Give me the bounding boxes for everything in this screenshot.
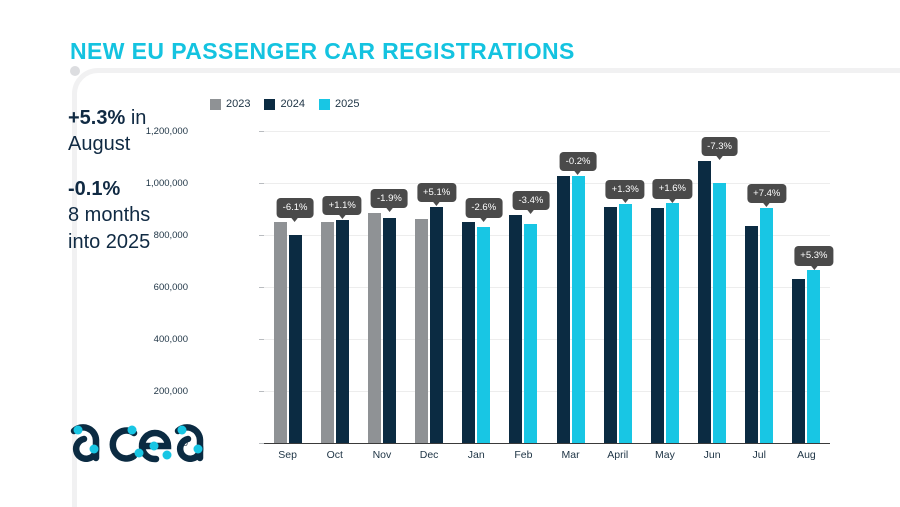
x-tick-label-Oct: Oct <box>327 449 343 461</box>
pct-label-Jan: -2.6% <box>465 198 502 218</box>
bar-Nov-2023[interactable] <box>368 213 381 443</box>
stat-ytd-value: -0.1% <box>68 178 120 200</box>
bar-Jun-2025[interactable] <box>713 183 726 443</box>
bar-Feb-2024[interactable] <box>509 215 522 443</box>
bar-April-2025[interactable] <box>619 204 632 443</box>
bar-Oct-2024[interactable] <box>336 220 349 443</box>
bar-Oct-2023[interactable] <box>321 222 334 443</box>
bar-group-April <box>594 131 641 443</box>
legend-swatch-2025 <box>319 99 330 110</box>
stat-ytd-line1: 8 months <box>68 204 150 226</box>
bar-Jan-2024[interactable] <box>462 222 475 443</box>
gridline-0 <box>264 443 830 444</box>
stat-august-value: +5.3% <box>68 107 125 129</box>
y-tick-label-200000: 200,000 <box>118 386 188 397</box>
legend-label-2025: 2025 <box>335 98 359 110</box>
chart-plot-area: -6.1%+1.1%-1.9%+5.1%-2.6%-3.4%-0.2%+1.3%… <box>264 131 830 443</box>
pct-label-Mar: -0.2% <box>560 152 597 172</box>
x-tick-label-Aug: Aug <box>797 449 816 461</box>
y-tick-label-1000000: 1,000,000 <box>118 178 188 189</box>
y-tick-label-600000: 600,000 <box>118 282 188 293</box>
x-tick-label-May: May <box>655 449 675 461</box>
x-axis: SepOctNovDecJanFebMarAprilMayJunJulAug <box>264 449 830 469</box>
bar-May-2024[interactable] <box>651 208 664 443</box>
x-tick-label-April: April <box>607 449 628 461</box>
bar-group-Mar <box>547 131 594 443</box>
x-tick-label-Dec: Dec <box>420 449 439 461</box>
x-tick-label-Jun: Jun <box>704 449 721 461</box>
y-tick-label-800000: 800,000 <box>118 230 188 241</box>
chart-page: NEW EU PASSENGER CAR REGISTRATIONS +5.3%… <box>0 0 900 507</box>
legend-item-2023[interactable]: 2023 <box>210 98 250 110</box>
pct-label-Oct: +1.1% <box>323 196 362 216</box>
bar-group-Jul <box>736 131 783 443</box>
legend-label-2023: 2023 <box>226 98 250 110</box>
bar-Jun-2024[interactable] <box>698 161 711 443</box>
bar-group-Jan <box>453 131 500 443</box>
pct-label-Dec: +5.1% <box>417 183 456 203</box>
acea-logo <box>66 405 216 467</box>
bar-group-Sep <box>264 131 311 443</box>
y-tick-mark-0 <box>259 443 264 444</box>
bar-group-Jun <box>689 131 736 443</box>
legend-item-2024[interactable]: 2024 <box>264 98 304 110</box>
x-tick-label-Jul: Jul <box>753 449 766 461</box>
pct-label-Nov: -1.9% <box>371 189 408 209</box>
legend-item-2025[interactable]: 2025 <box>319 98 359 110</box>
pct-label-Jul: +7.4% <box>747 184 786 204</box>
bar-April-2024[interactable] <box>604 207 617 443</box>
bar-Aug-2025[interactable] <box>807 270 820 443</box>
x-tick-label-Jan: Jan <box>468 449 485 461</box>
bar-Jul-2025[interactable] <box>760 208 773 443</box>
bar-Mar-2025[interactable] <box>572 176 585 443</box>
bar-Dec-2023[interactable] <box>415 219 428 443</box>
card-corner-dot <box>70 66 80 76</box>
bar-May-2025[interactable] <box>666 203 679 443</box>
x-tick-label-Feb: Feb <box>514 449 532 461</box>
legend-swatch-2024 <box>264 99 275 110</box>
bar-group-Nov <box>358 131 405 443</box>
bar-Mar-2024[interactable] <box>557 176 570 443</box>
page-title: NEW EU PASSENGER CAR REGISTRATIONS <box>70 38 575 65</box>
legend-swatch-2023 <box>210 99 221 110</box>
bar-group-Aug <box>783 131 830 443</box>
bar-Sep-2024[interactable] <box>289 235 302 443</box>
bar-Dec-2024[interactable] <box>430 207 443 443</box>
bar-Nov-2024[interactable] <box>383 218 396 443</box>
bar-Jul-2024[interactable] <box>745 226 758 443</box>
y-tick-label-400000: 400,000 <box>118 334 188 345</box>
bar-group-Dec <box>406 131 453 443</box>
bar-Jan-2025[interactable] <box>477 227 490 443</box>
legend-label-2024: 2024 <box>280 98 304 110</box>
y-tick-label-1200000: 1,200,000 <box>118 126 188 137</box>
pct-label-May: +1.6% <box>653 179 692 199</box>
pct-label-Jun: -7.3% <box>701 137 738 157</box>
pct-label-Aug: +5.3% <box>794 246 833 266</box>
bar-Aug-2024[interactable] <box>792 279 805 443</box>
bar-Sep-2023[interactable] <box>274 222 287 443</box>
bar-group-Feb <box>500 131 547 443</box>
acea-logo-mark <box>66 405 216 467</box>
bar-group-May <box>641 131 688 443</box>
bar-group-Oct <box>311 131 358 443</box>
pct-label-Sep: -6.1% <box>277 198 314 218</box>
bar-Feb-2025[interactable] <box>524 224 537 443</box>
pct-label-Feb: -3.4% <box>512 191 549 211</box>
x-tick-label-Mar: Mar <box>562 449 580 461</box>
x-tick-label-Sep: Sep <box>278 449 297 461</box>
pct-label-April: +1.3% <box>606 180 645 200</box>
x-tick-label-Nov: Nov <box>373 449 392 461</box>
chart-legend: 202320242025 <box>210 98 359 110</box>
